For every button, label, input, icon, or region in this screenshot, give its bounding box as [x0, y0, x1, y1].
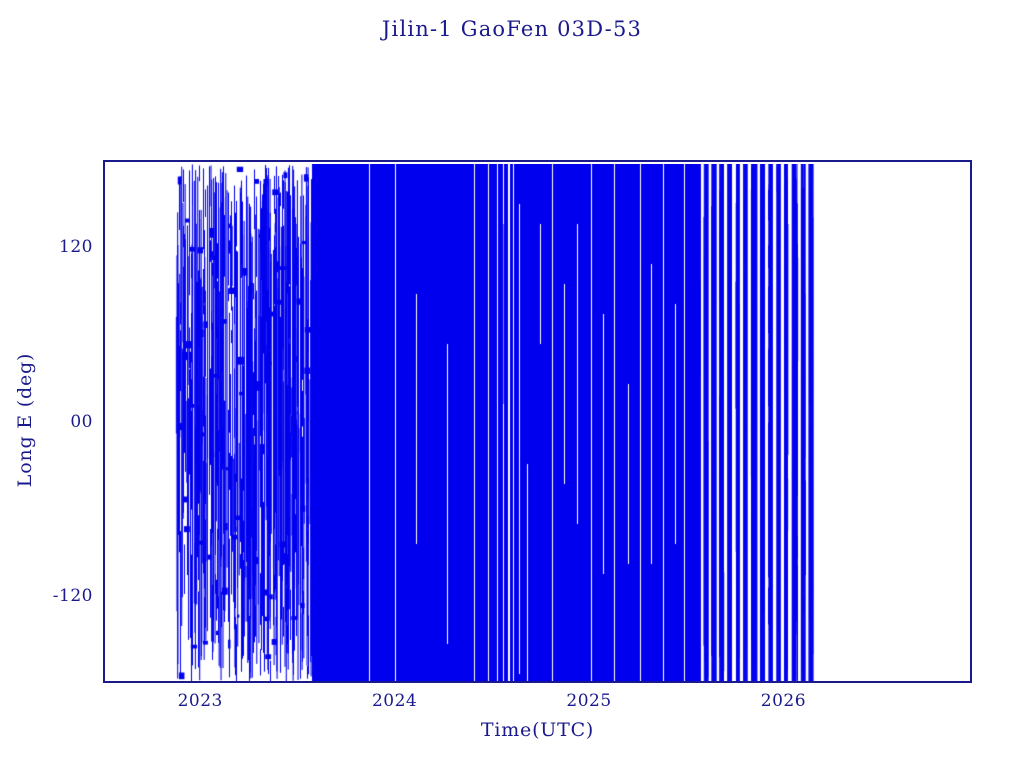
x-axis-label: Time(UTC) [338, 719, 738, 741]
plot-area [103, 160, 972, 683]
y-tick-label: 120 [33, 237, 93, 257]
x-tick-label: 2026 [723, 691, 843, 711]
plot-figure: Jilin-1 GaoFen 03D-53 Long E (deg) Time(… [0, 0, 1024, 768]
page-title: Jilin-1 GaoFen 03D-53 [0, 17, 1024, 41]
y-tick-label: -120 [33, 586, 93, 606]
y-tick-label: 00 [33, 412, 93, 432]
x-tick-label: 2024 [335, 691, 455, 711]
x-tick-label: 2023 [140, 691, 260, 711]
x-tick-label: 2025 [529, 691, 649, 711]
longitude-vs-time-trace [107, 164, 972, 683]
